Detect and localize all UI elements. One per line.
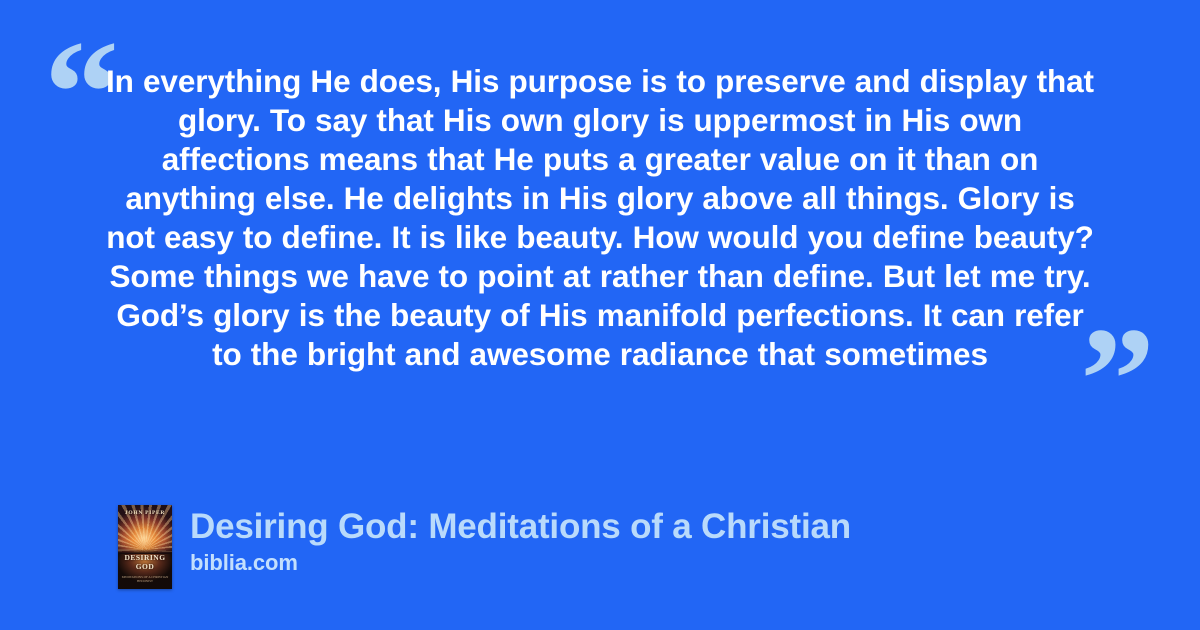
close-quote-icon: ” [1080, 305, 1155, 455]
quote-card: “ In everything He does, His purpose is … [0, 0, 1200, 630]
book-cover-author: JOHN PIPER [118, 510, 172, 516]
book-cover-subtitle: MEDITATIONS OF A CHRISTIAN HEDONIST [118, 575, 172, 583]
source-title: Desiring God: Meditations of a Christian [190, 507, 851, 547]
quote-text: In everything He does, His purpose is to… [100, 62, 1100, 374]
book-cover-title: DESIRING GOD [118, 553, 172, 572]
quote-body: In everything He does, His purpose is to… [100, 62, 1100, 412]
book-cover-title-line-2: GOD [118, 562, 172, 572]
footer-attribution: JOHN PIPER DESIRING GOD MEDITATIONS OF A… [118, 505, 851, 589]
book-cover-title-line-1: DESIRING [118, 553, 172, 563]
source-domain: biblia.com [190, 550, 851, 576]
book-cover-thumbnail: JOHN PIPER DESIRING GOD MEDITATIONS OF A… [118, 505, 172, 589]
footer-text-block: Desiring God: Meditations of a Christian… [190, 505, 851, 576]
